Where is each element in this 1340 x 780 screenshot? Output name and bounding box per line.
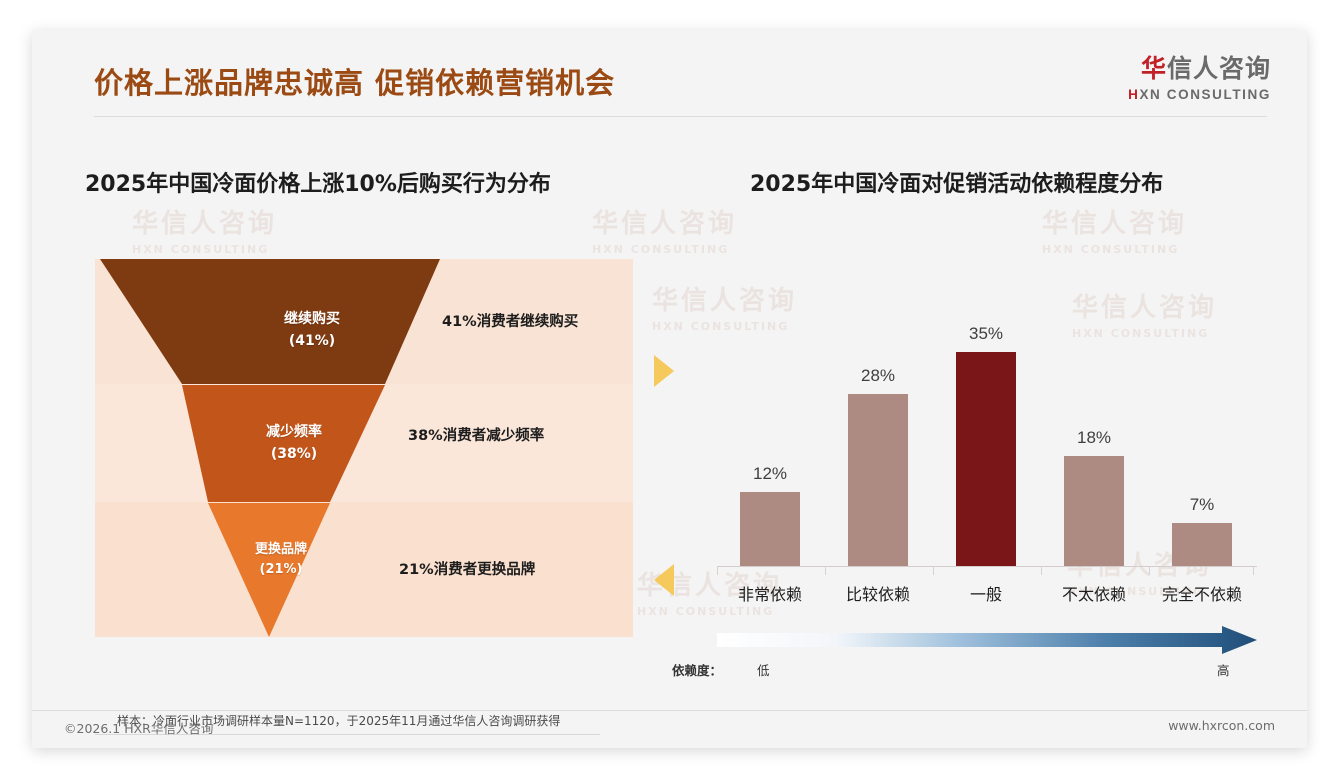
watermark: 华信人咨询HXN CONSULTING <box>1042 208 1187 256</box>
funnel-chart: 继续购买(41%) 减少频率(38%) 更换品牌(21%) 41%消费者继续购买… <box>95 259 633 637</box>
triangle-left-icon <box>652 563 676 602</box>
slide-header: 价格上涨品牌忠诚高 促销依赖营销机会 华信人咨询 HXN CONSULTING <box>32 30 1307 116</box>
page-title: 价格上涨品牌忠诚高 促销依赖营销机会 <box>94 60 615 102</box>
axis-tick <box>1041 566 1042 575</box>
footer-website[interactable]: www.hxrcon.com <box>1168 718 1275 733</box>
footer-copyright: ©2026.1 HXR华信人咨询 <box>64 718 213 737</box>
right-chart-title: 2025年中国冷面对促销活动依赖程度分布 <box>750 166 1163 198</box>
funnel-note: 41%消费者继续购买 <box>442 310 578 331</box>
watermark: 华信人咨询HXN CONSULTING <box>592 208 737 256</box>
company-logo: 华信人咨询 HXN CONSULTING <box>1128 56 1271 102</box>
gradient-arrow-icon <box>717 626 1257 656</box>
bar-value-label: 18% <box>1041 428 1147 448</box>
axis-tick <box>1149 566 1150 575</box>
logo-english: HXN CONSULTING <box>1128 88 1271 102</box>
scale-low-label: 低 <box>757 660 770 679</box>
bar-category-label: 比较依赖 <box>818 581 938 605</box>
watermark: 华信人咨询HXN CONSULTING <box>132 208 277 256</box>
bar[interactable] <box>740 492 800 566</box>
logo-chinese-red: 华 <box>1141 54 1167 83</box>
axis-tick <box>1253 566 1254 575</box>
bar-category-label: 非常依赖 <box>710 581 830 605</box>
header-divider <box>94 116 1267 117</box>
funnel-segment-label: 减少频率(38%) <box>229 422 359 465</box>
bar-column[interactable] <box>825 394 931 566</box>
bar-column[interactable] <box>1041 456 1147 566</box>
bar-category-label: 不太依赖 <box>1034 581 1154 605</box>
logo-chinese-gray: 信人咨询 <box>1167 54 1271 83</box>
bar-chart-axis <box>717 566 1257 567</box>
bar-value-label: 12% <box>717 464 823 484</box>
bar-value-label: 35% <box>933 324 1039 344</box>
bar-category-label: 一般 <box>926 581 1046 605</box>
bar-value-label: 28% <box>825 366 931 386</box>
funnel-segment-label: 继续购买(41%) <box>247 309 377 352</box>
bar[interactable] <box>1064 456 1124 566</box>
axis-tick <box>933 566 934 575</box>
bar[interactable] <box>848 394 908 566</box>
bar[interactable] <box>1172 523 1232 566</box>
dependency-scale: 依赖度： 低 高 <box>717 626 1257 682</box>
bar-column[interactable] <box>933 352 1039 566</box>
funnel-segment-label: 更换品牌(21%) <box>225 540 337 580</box>
bar-value-label: 7% <box>1149 495 1255 515</box>
slide-canvas: 价格上涨品牌忠诚高 促销依赖营销机会 华信人咨询 HXN CONSULTING … <box>32 30 1307 748</box>
slide-footer: ©2026.1 HXR华信人咨询 www.hxrcon.com <box>32 710 1307 748</box>
funnel-note: 21%消费者更换品牌 <box>399 558 535 579</box>
triangle-right-icon <box>652 354 676 393</box>
bar-column[interactable] <box>1149 523 1255 566</box>
axis-tick <box>825 566 826 575</box>
logo-chinese: 华信人咨询 <box>1128 56 1271 81</box>
scale-high-label: 高 <box>1217 660 1230 679</box>
left-chart-title: 2025年中国冷面价格上涨10%后购买行为分布 <box>85 166 551 198</box>
dependency-bar-chart: 12% 28% 35% 18% 7% 非常依赖 比较依赖 一般 不太依赖 完全不… <box>687 288 1257 588</box>
bar-column[interactable] <box>717 492 823 566</box>
axis-tick <box>717 566 718 575</box>
logo-english-initial: H <box>1128 87 1139 102</box>
scale-caption: 依赖度： <box>672 660 722 679</box>
logo-english-rest: XN CONSULTING <box>1139 87 1271 102</box>
bar-highlighted[interactable] <box>956 352 1016 566</box>
bar-category-label: 完全不依赖 <box>1142 581 1262 605</box>
funnel-note: 38%消费者减少频率 <box>408 424 544 445</box>
